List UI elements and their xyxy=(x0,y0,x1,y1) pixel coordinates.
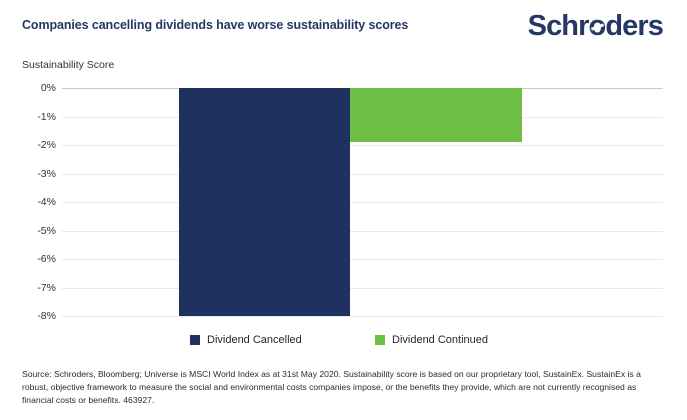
chart-legend: Dividend Cancelled Dividend Continued xyxy=(0,334,687,352)
legend-swatch-navy xyxy=(190,335,200,345)
chart-header: Companies cancelling dividends have wors… xyxy=(0,0,687,56)
legend-swatch-green xyxy=(375,335,385,345)
y-tick-label: -5% xyxy=(0,225,56,237)
y-tick-label: 0% xyxy=(0,82,56,94)
bar-dividend-cancelled[interactable] xyxy=(179,88,350,316)
page-title: Companies cancelling dividends have wors… xyxy=(22,18,408,32)
y-axis-title: Sustainability Score xyxy=(22,59,114,71)
y-tick-label: -1% xyxy=(0,111,56,123)
legend-item-dividend-cancelled[interactable]: Dividend Cancelled xyxy=(190,334,302,346)
logo-slashed-o-glyph: o xyxy=(589,12,606,41)
legend-label: Dividend Continued xyxy=(392,334,488,346)
source-note: Source: Schroders, Bloomberg; Universe i… xyxy=(22,368,666,407)
y-tick-label: -4% xyxy=(0,196,56,208)
plot-area: 0% -1% -2% -3% -4% -5% -6% -7% -8% xyxy=(0,80,687,328)
schroders-logo: Schroders xyxy=(528,12,663,41)
legend-label: Dividend Cancelled xyxy=(207,334,302,346)
bars-layer xyxy=(62,80,663,328)
y-tick-label: -6% xyxy=(0,253,56,265)
bar-dividend-continued[interactable] xyxy=(350,88,521,142)
y-tick-label: -7% xyxy=(0,282,56,294)
y-tick-label: -8% xyxy=(0,310,56,322)
y-tick-label: -2% xyxy=(0,139,56,151)
y-tick-label: -3% xyxy=(0,168,56,180)
legend-item-dividend-continued[interactable]: Dividend Continued xyxy=(375,334,488,346)
logo-text-part3: ders xyxy=(605,10,663,42)
logo-text-part1: Schr xyxy=(528,10,589,42)
